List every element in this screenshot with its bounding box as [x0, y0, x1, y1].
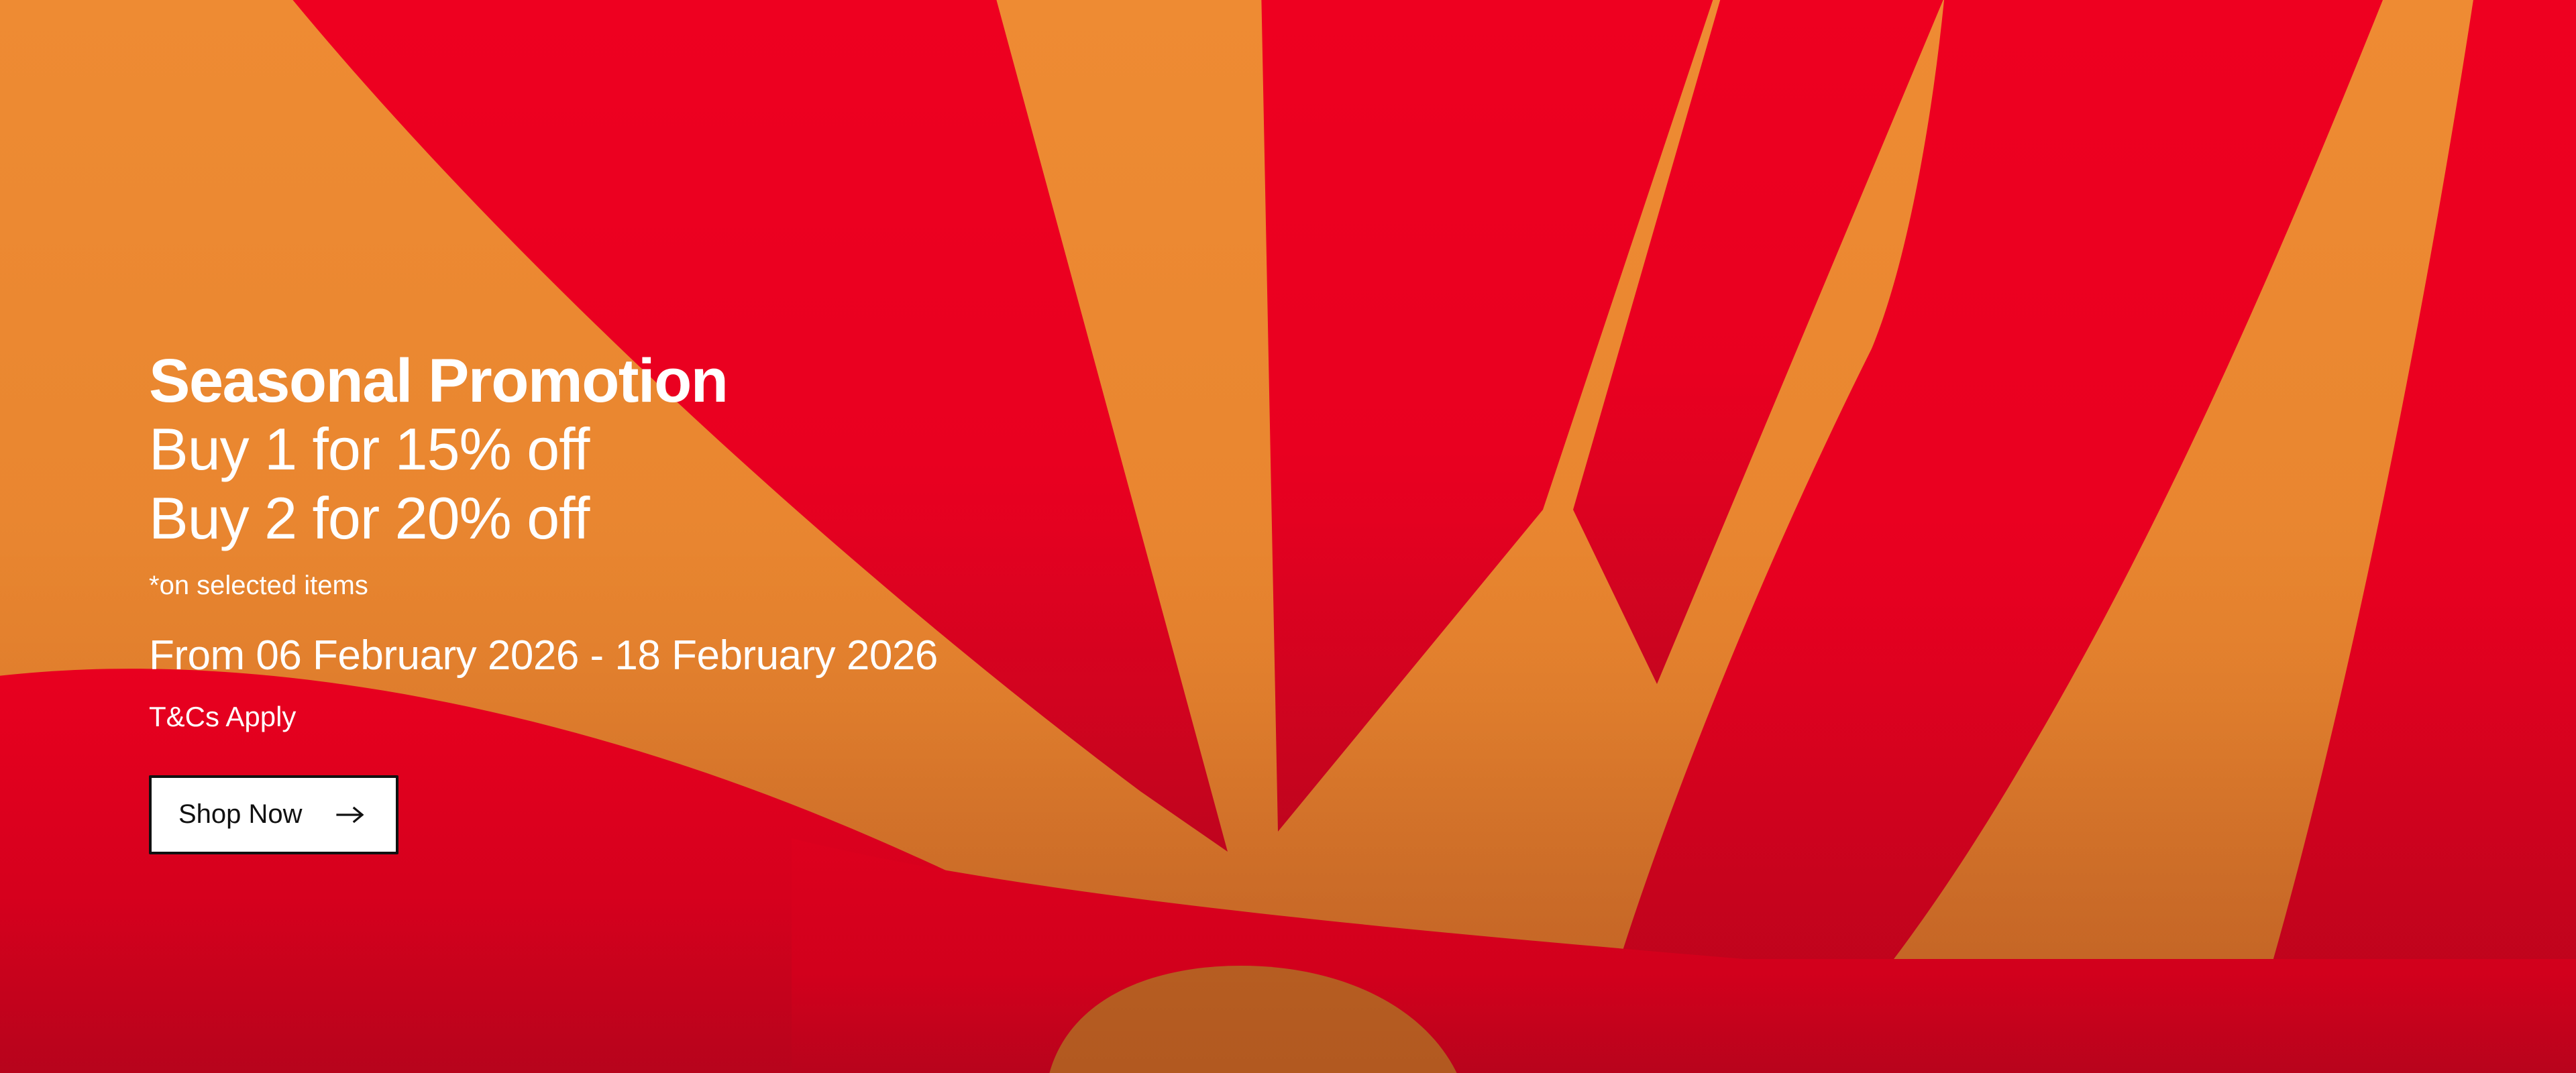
- offer-line-2: Buy 2 for 20% off: [149, 484, 1625, 553]
- banner-headline: Seasonal Promotion: [149, 349, 1625, 414]
- arrow-right-icon: [333, 801, 368, 828]
- promotion-date-range: From 06 February 2026 - 18 February 2026: [149, 631, 1625, 681]
- fineprint-note: *on selected items: [149, 569, 1625, 602]
- banner-content: Seasonal Promotion Buy 1 for 15% off Buy…: [149, 349, 1625, 854]
- shop-now-label: Shop Now: [178, 799, 303, 830]
- terms-and-conditions-note: T&Cs Apply: [149, 700, 1625, 734]
- shop-now-button[interactable]: Shop Now: [149, 775, 398, 854]
- promotional-banner: Seasonal Promotion Buy 1 for 15% off Buy…: [0, 0, 2576, 1073]
- offer-line-1: Buy 1 for 15% off: [149, 414, 1625, 484]
